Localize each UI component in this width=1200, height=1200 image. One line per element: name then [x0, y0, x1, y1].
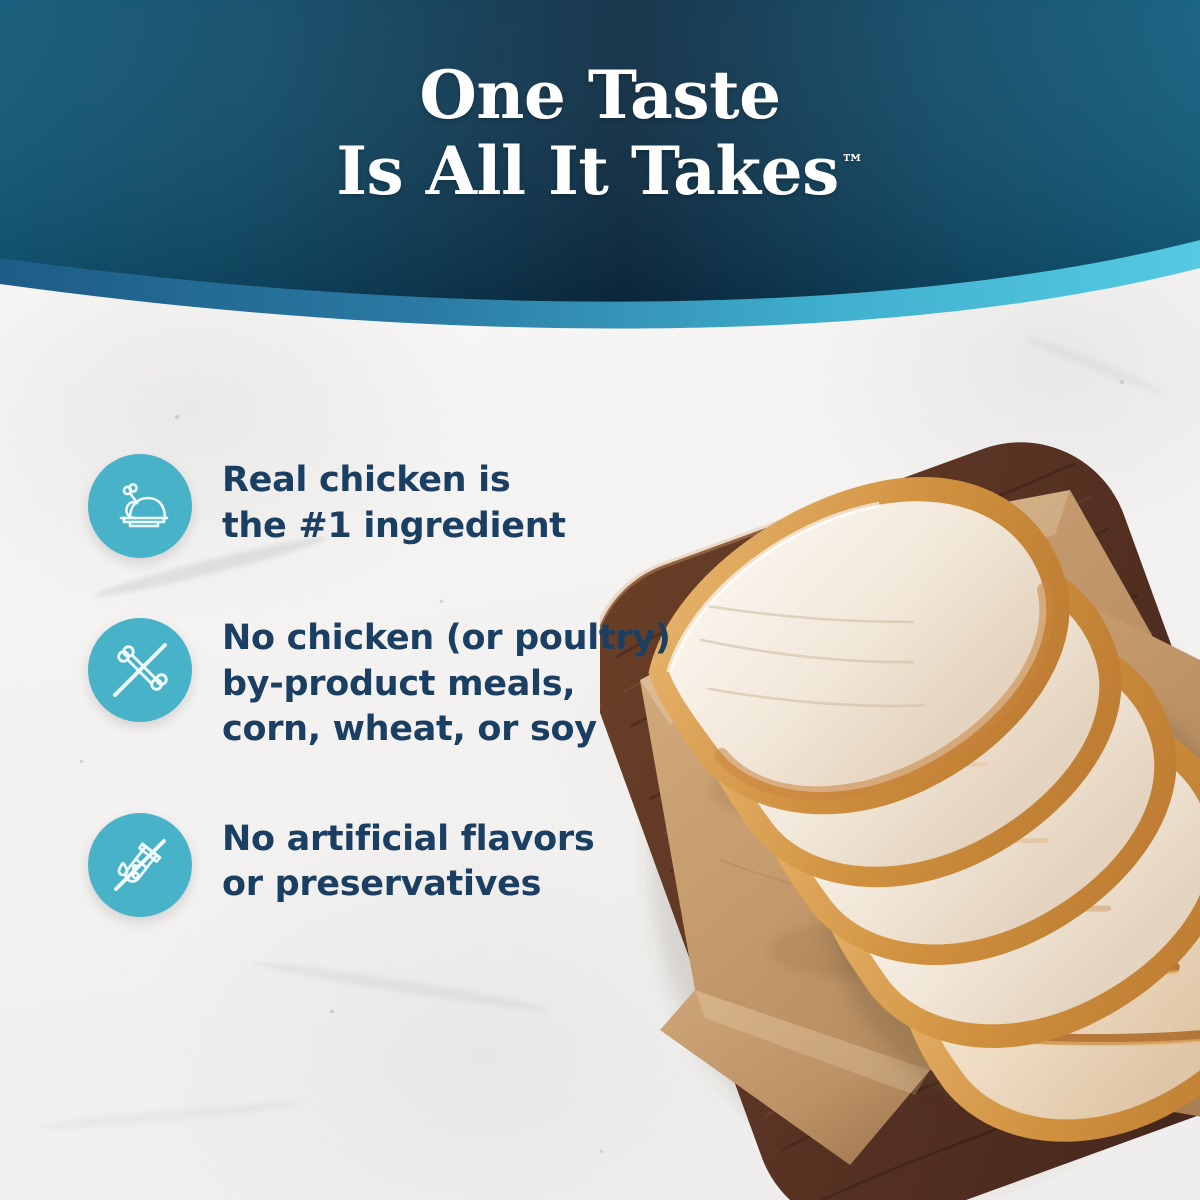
feature-text: No artificial flavors or preservatives: [222, 811, 594, 908]
feature-item-no-artificial: No artificial flavors or preservatives: [88, 811, 708, 917]
no-bone-icon: [88, 618, 192, 722]
product-feature-poster: One Taste Is All It Takes™: [0, 0, 1200, 1200]
feature-list: Real chicken is the #1 ingredient: [88, 452, 708, 917]
feature-text: Real chicken is the #1 ingredient: [222, 452, 566, 549]
feature-item-no-byproduct: No chicken (or poultry) by-product meals…: [88, 616, 708, 753]
roast-chicken-platter-icon: [88, 454, 192, 558]
marble-speck: [80, 760, 83, 763]
feature-text: No chicken (or poultry) by-product meals…: [222, 616, 671, 753]
header-band: One Taste Is All It Takes™: [0, 0, 1200, 360]
marble-speck: [1120, 380, 1124, 384]
no-test-tube-icon: [88, 813, 192, 917]
marble-speck: [330, 1010, 334, 1013]
marble-speck: [175, 415, 179, 419]
feature-item-real-chicken: Real chicken is the #1 ingredient: [88, 452, 708, 558]
